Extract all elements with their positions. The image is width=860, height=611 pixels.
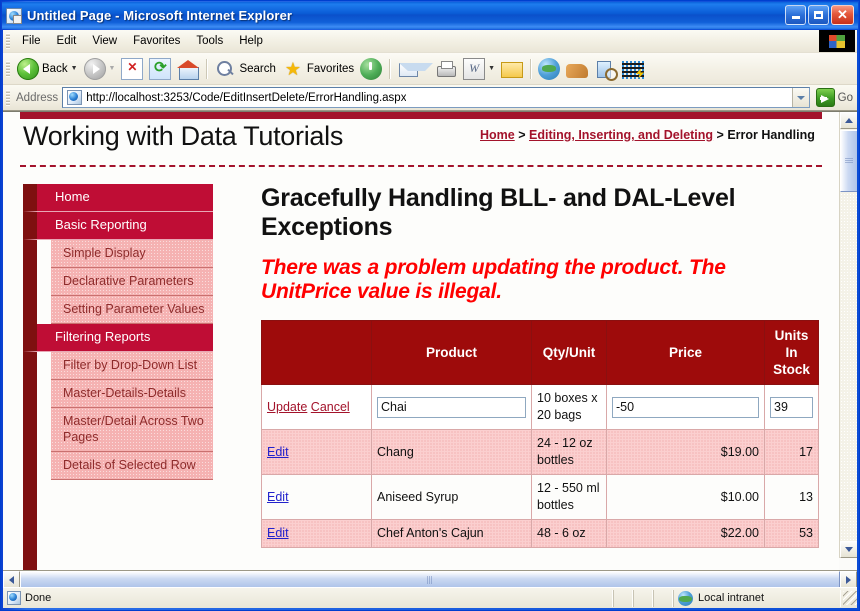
refresh-icon [149,58,171,80]
print-icon [435,58,457,80]
history-icon [360,58,382,80]
page-horizontal-scrollbar[interactable] [3,570,857,588]
matrix-button[interactable] [619,56,647,82]
price-cell: $22.00 [607,520,765,548]
row-commands-cell: Edit [262,430,372,475]
edit-word-icon [463,58,485,80]
sidebar-item-declarative-parameters[interactable]: Declarative Parameters [51,268,213,296]
table-row: Edit Chef Anton's Cajun 48 - 6 oz $22.00… [262,520,819,548]
stop-icon [121,58,143,80]
chevron-down-icon [845,547,853,552]
address-dropdown-button[interactable] [792,88,809,107]
messenger-button[interactable] [535,56,563,82]
toolbar-separator [206,59,207,79]
product-name-input[interactable] [377,397,526,418]
web-page: Working with Data Tutorials Home > Editi… [3,112,839,572]
page-top-accent-bar [20,112,822,119]
sidebar-item-setting-parameter-values[interactable]: Setting Parameter Values [51,296,213,324]
price-input[interactable] [612,397,759,418]
table-row: Update Cancel 10 boxes x 20 bags [262,385,819,430]
product-cell: Chef Anton's Cajun [372,520,532,548]
history-button[interactable] [357,56,385,82]
dog-icon [566,64,588,78]
vertical-scroll-thumb[interactable] [840,130,857,192]
price-cell: $10.00 [607,475,765,520]
menu-item-edit[interactable]: Edit [49,32,85,50]
chevron-left-icon [9,576,14,584]
toolbar: Back ▼ ▼ Search ★ Favorites [3,53,857,85]
sidebar-item-simple-display[interactable]: Simple Display [51,240,213,268]
breadcrumb-link-editing[interactable]: Editing, Inserting, and Deleting [529,128,713,142]
breadcrumb-current: Error Handling [727,128,815,142]
row-commands-cell: Edit [262,520,372,548]
table-header-row: Product Qty/Unit Price Units In Stock [262,321,819,385]
mail-icon [397,58,419,80]
menu-bar: File Edit View Favorites Tools Help [3,30,857,53]
qty-cell: 10 boxes x 20 bags [532,385,607,430]
menu-item-help[interactable]: Help [231,32,271,50]
security-zone-text: Local intranet [698,592,764,604]
toolbar-separator [530,59,531,79]
price-cell: $19.00 [607,430,765,475]
scroll-up-button[interactable] [840,112,857,129]
status-message-pane: Done [3,590,613,607]
breadcrumb: Home > Editing, Inserting, and Deleting … [480,127,820,143]
mail-button[interactable]: ▼ [394,56,432,82]
messenger-icon [538,58,560,80]
edit-dropdown-icon[interactable]: ▼ [488,65,495,72]
row-commands-cell: Edit [262,475,372,520]
column-header-product: Product [372,321,532,385]
home-button[interactable] [174,56,202,82]
column-header-price: Price [607,321,765,385]
table-row: Edit Chang 24 - 12 oz bottles $19.00 17 [262,430,819,475]
refresh-button[interactable] [146,56,174,82]
qty-cell: 24 - 12 oz bottles [532,430,607,475]
forward-button[interactable]: ▼ [81,56,119,82]
breadcrumb-separator: > [717,128,724,142]
title-bar: Untitled Page - Microsoft Internet Explo… [2,2,858,29]
scroll-right-button[interactable] [840,571,857,588]
chevron-right-icon [846,576,851,584]
stop-button[interactable] [118,56,146,82]
home-icon [177,58,199,80]
notes-icon [501,62,523,78]
page-title: Gracefully Handling BLL- and DAL-Level E… [261,184,821,242]
ie-page-icon [67,90,82,105]
thumb-grip-icon [845,158,853,164]
edit-link[interactable]: Edit [267,490,289,504]
window-title: Untitled Page - Microsoft Internet Explo… [27,8,292,23]
site-title: Working with Data Tutorials [23,121,343,152]
back-dropdown-icon[interactable]: ▼ [71,65,78,72]
sidebar-item-filtering-reports[interactable]: Filtering Reports [23,324,213,352]
table-row: Edit Aniseed Syrup 12 - 550 ml bottles $… [262,475,819,520]
matrix-icon [622,61,644,79]
research-button[interactable] [591,56,619,82]
edit-in-word-button[interactable]: ▼ [460,56,498,82]
menu-grip-handle[interactable] [6,33,10,49]
address-label: Address [16,92,58,104]
units-cell: 53 [765,520,819,548]
menu-item-view[interactable]: View [84,32,125,50]
ie-browser-window: Untitled Page - Microsoft Internet Explo… [0,0,860,611]
product-cell: Aniseed Syrup [372,475,532,520]
menu-item-favorites[interactable]: Favorites [125,32,188,50]
resize-grip-icon[interactable] [843,591,857,605]
sidebar-nav: Home Basic Reporting Simple Display Decl… [23,184,213,480]
status-text: Done [25,592,51,604]
units-in-stock-input[interactable] [770,397,813,418]
globe-icon [678,591,693,606]
back-icon [17,58,39,80]
address-grip-handle[interactable] [6,90,10,106]
print-button[interactable] [432,56,460,82]
cancel-link[interactable]: Cancel [311,400,350,414]
main-content: Gracefully Handling BLL- and DAL-Level E… [261,184,821,548]
units-cell [765,385,819,430]
dog-search-button[interactable] [563,56,591,82]
search-label: Search [239,63,275,75]
scroll-left-button[interactable] [3,571,20,588]
menu-item-tools[interactable]: Tools [188,32,231,50]
breadcrumb-link-home[interactable]: Home [480,128,515,142]
sidebar-item-master-detail-across-two-pages[interactable]: Master/Detail Across Two Pages [51,408,213,452]
products-gridview: Product Qty/Unit Price Units In Stock Up… [261,320,819,548]
price-cell [607,385,765,430]
status-pane-spacer [633,590,653,607]
close-icon: ✕ [837,9,848,21]
sidebar-item-details-of-selected-row[interactable]: Details of Selected Row [51,452,213,480]
update-link[interactable]: Update [267,400,307,414]
back-label: Back [42,63,68,75]
error-message: There was a problem updating the product… [261,256,821,304]
search-icon [214,58,236,80]
favorites-star-icon: ★ [282,58,304,80]
menu-item-file[interactable]: File [14,32,49,50]
go-label: Go [838,92,853,104]
toolbar-separator [389,59,390,79]
column-header-commands [262,321,372,385]
close-button[interactable]: ✕ [831,5,854,25]
search-button[interactable]: Search [211,56,278,82]
minimize-button[interactable] [785,5,806,25]
go-button[interactable]: Go [812,88,857,107]
sidebar-item-basic-reporting[interactable]: Basic Reporting [23,212,213,240]
edit-link[interactable]: Edit [267,526,289,540]
edit-link[interactable]: Edit [267,445,289,459]
thumb-grip-icon [427,576,433,584]
ie-page-icon [7,591,21,605]
chevron-down-icon [797,96,805,100]
forward-dropdown-icon[interactable]: ▼ [109,65,116,72]
row-commands-cell: Update Cancel [262,385,372,430]
column-header-units-in-stock: Units In Stock [765,321,819,385]
qty-cell: 48 - 6 oz [532,520,607,548]
page-viewport: Working with Data Tutorials Home > Editi… [3,111,857,575]
maximize-button[interactable] [808,5,829,25]
horizontal-scroll-thumb[interactable] [20,571,840,588]
sidebar-item-filter-by-drop-down-list[interactable]: Filter by Drop-Down List [51,352,213,380]
sidebar-item-home[interactable]: Home [23,184,213,212]
scroll-down-button[interactable] [840,541,857,558]
status-pane-spacer [613,590,633,607]
units-cell: 13 [765,475,819,520]
product-cell [372,385,532,430]
security-zone-pane[interactable]: Local intranet [673,590,841,607]
address-input[interactable]: http://localhost:3253/Code/EditInsertDel… [62,87,809,108]
back-button[interactable]: Back ▼ [14,56,81,82]
status-pane-spacer [653,590,673,607]
address-bar: Address http://localhost:3253/Code/EditI… [3,85,857,111]
toolbar-grip-handle[interactable] [6,61,10,77]
favorites-button[interactable]: ★ Favorites [279,56,357,82]
notes-button[interactable] [498,56,526,82]
ie-page-icon [6,8,22,24]
address-url-text: http://localhost:3253/Code/EditInsertDel… [86,92,406,104]
column-header-qty-unit: Qty/Unit [532,321,607,385]
sidebar-item-master-details-details[interactable]: Master-Details-Details [51,380,213,408]
breadcrumb-separator: > [518,128,525,142]
go-arrow-icon [816,88,835,107]
favorites-label: Favorites [307,63,354,75]
units-cell: 17 [765,430,819,475]
product-cell: Chang [372,430,532,475]
page-header: Working with Data Tutorials Home > Editi… [20,119,822,167]
chevron-up-icon [845,118,853,123]
windows-flag-icon [819,30,855,52]
forward-icon [84,58,106,80]
research-icon [594,58,616,80]
page-vertical-scrollbar[interactable] [839,112,857,558]
window-controls: ✕ [785,5,854,25]
status-bar: Done Local intranet [3,587,857,608]
qty-cell: 12 - 550 ml bottles [532,475,607,520]
